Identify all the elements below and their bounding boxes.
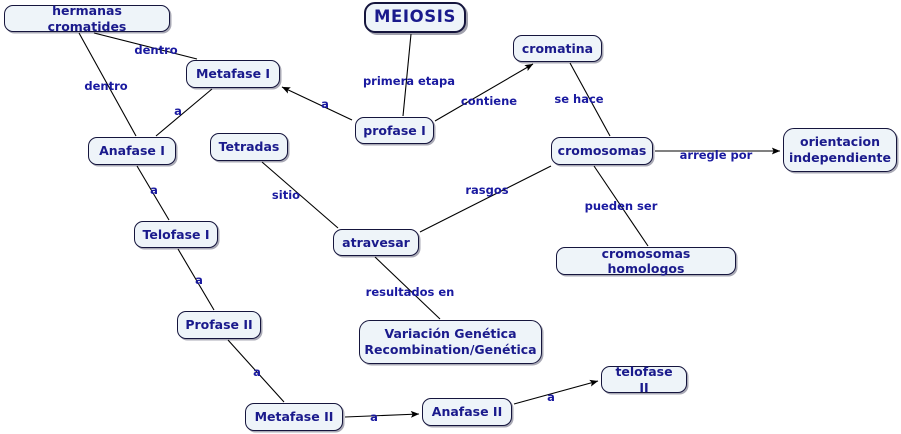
edge-line-e10 (420, 166, 551, 232)
edge-label-e16: a (370, 410, 378, 424)
edge-line-e17 (514, 381, 598, 404)
concept-node-tetradas[interactable]: Tetradas (210, 133, 288, 161)
concept-node-telofase2[interactable]: telofase II (601, 366, 687, 393)
edge-label-e10: rasgos (465, 183, 508, 197)
concept-node-anafase2[interactable]: Anafase II (422, 398, 512, 426)
edge-line-e3 (156, 89, 212, 136)
edge-label-e11: sitio (272, 188, 300, 202)
edge-label-e8: arregle por (680, 148, 753, 162)
edge-label-e5: a (321, 97, 329, 111)
concept-node-cromatina[interactable]: cromatina (513, 35, 602, 62)
edge-label-e12: a (150, 183, 158, 197)
edge-label-e17: a (547, 390, 555, 404)
edge-line-e6 (435, 64, 533, 121)
edge-label-e3: a (174, 104, 182, 118)
concept-node-orientacion[interactable]: orientacion independiente (783, 128, 897, 172)
concept-map-canvas: hermanas cromatidesMEIOSIScromatinaMetaf… (0, 0, 901, 434)
edge-label-e2: dentro (84, 79, 127, 93)
concept-node-variacion[interactable]: Variación Genética Recombination/Genétic… (359, 320, 542, 364)
concept-node-profase1[interactable]: profase I (355, 117, 434, 144)
concept-node-atravesar[interactable]: atravesar (333, 229, 419, 256)
edge-label-e4: primera etapa (363, 74, 455, 88)
concept-node-metafase2[interactable]: Metafase II (245, 403, 343, 431)
concept-node-telofase1[interactable]: Telofase I (134, 221, 218, 248)
concept-node-metafase1[interactable]: Metafase I (186, 60, 280, 88)
edge-label-e7: se hace (554, 92, 603, 106)
edge-label-e13: a (195, 273, 203, 287)
concept-node-homologos[interactable]: cromosomas homologos (556, 247, 736, 275)
concept-node-cromosomas[interactable]: cromosomas (551, 137, 653, 165)
concept-node-hermanas[interactable]: hermanas cromatides (4, 5, 170, 32)
concept-node-meiosis[interactable]: MEIOSIS (364, 2, 466, 33)
edge-line-e5 (282, 87, 352, 120)
edge-layer (0, 0, 901, 434)
concept-node-profase2[interactable]: Profase II (177, 311, 261, 339)
edge-label-e9: pueden ser (585, 199, 658, 213)
edge-label-e6: contiene (461, 94, 517, 108)
edge-label-e15: a (253, 365, 261, 379)
concept-node-anafase1[interactable]: Anafase I (88, 137, 176, 165)
edge-label-e1: dentro (134, 43, 177, 57)
edge-label-e14: resultados en (366, 285, 455, 299)
edge-line-e16 (345, 414, 419, 417)
